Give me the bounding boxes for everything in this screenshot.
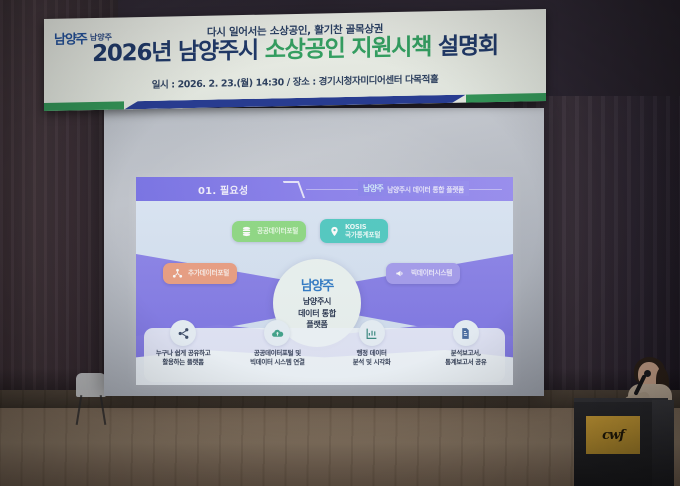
- feature-label: 행정 데이터 분석 및 시각화: [353, 349, 391, 368]
- tag-label-line2: 국가통계포털: [345, 231, 380, 239]
- feature-label-line1: 분석보고서,: [451, 349, 481, 357]
- feature-item-report: 분석보고서, 통계보고서 공유: [419, 320, 513, 382]
- center-line-2: 데이터 통합: [298, 308, 336, 320]
- chevron-right-icon: [283, 181, 305, 198]
- megaphone-icon: [394, 267, 407, 280]
- tag-label: KOSIS 국가통계포털: [345, 223, 380, 239]
- banner-title-part1: 2026년 남양주시: [92, 38, 265, 67]
- slide-header: 01. 필요성 남양주 남양주시 데이터 통합 플랫폼: [136, 177, 513, 201]
- tag-extra-data-portal: 추가데이터포털: [163, 263, 237, 284]
- conference-hall-scene: 01. 필요성 남양주 남양주시 데이터 통합 플랫폼: [0, 0, 680, 486]
- center-line-1: 남양주시: [303, 296, 331, 308]
- tag-label: 공공데이터포털: [257, 227, 298, 235]
- feature-label-line2: 빅데이터 시스템 연결: [250, 358, 305, 366]
- banner-title-part3: 설명회: [431, 33, 498, 60]
- feature-label: 분석보고서, 통계보고서 공유: [445, 349, 486, 368]
- feature-label-line2: 분석 및 시각화: [353, 358, 391, 366]
- chart-icon: [359, 320, 385, 346]
- slide-body: 공공데이터포털 KOSIS 국가통계포털: [136, 201, 513, 385]
- tag-kosis: KOSIS 국가통계포털: [320, 219, 388, 243]
- slide-section-title: 필요성: [220, 186, 248, 197]
- tag-bigdata-system: 빅데이터시스템: [386, 263, 460, 284]
- platform-badge: 남양주 남양주시 데이터 통합 플랫폼: [358, 181, 469, 196]
- database-icon: [240, 225, 253, 238]
- stripe-segment: [466, 93, 546, 103]
- map-pin-icon: [328, 225, 341, 238]
- banner-title-part2: 소상공인 지원시책: [265, 34, 432, 63]
- feature-label: 누구나 쉽게 공유하고 활용하는 플랫폼: [156, 349, 211, 368]
- slide-section-number: 01.: [198, 186, 216, 197]
- feature-label-line1: 누구나 쉽게 공유하고: [156, 349, 211, 357]
- feature-label-line2: 통계보고서 공유: [445, 358, 486, 366]
- presentation-slide: 01. 필요성 남양주 남양주시 데이터 통합 플랫폼: [136, 177, 513, 385]
- share-icon: [170, 320, 196, 346]
- namyangju-logo-icon: 남양주: [363, 183, 383, 194]
- podium-plate: cwf: [586, 416, 640, 454]
- features-row: 누구나 쉽게 공유하고 활용하는 플랫폼 공공데이터포털 및 빅데이터 시스템 …: [136, 320, 513, 382]
- feature-label-line1: 행정 데이터: [357, 349, 387, 357]
- tag-label: 추가데이터포털: [188, 269, 229, 277]
- slide-section-heading: 01. 필요성: [198, 182, 248, 197]
- feature-label-line2: 활용하는 플랫폼: [162, 358, 203, 366]
- podium-side-panel: [652, 400, 674, 486]
- tag-public-data-portal: 공공데이터포털: [232, 221, 306, 242]
- feature-item-cloud: 공공데이터포털 및 빅데이터 시스템 연결: [230, 320, 324, 382]
- podium-plate-logo: cwf: [602, 428, 624, 443]
- cloud-upload-icon: [264, 320, 290, 346]
- network-icon: [171, 267, 184, 280]
- document-icon: [453, 320, 479, 346]
- tag-label: 빅데이터시스템: [411, 269, 452, 277]
- feature-label-line1: 공공데이터포털 및: [254, 349, 301, 357]
- namyangju-logo-icon: 남양주: [301, 275, 333, 294]
- banner-event-meta: 일시 : 2026. 2. 23.(월) 14:30 / 장소 : 경기시청자미…: [44, 69, 546, 93]
- stripe-segment: [44, 101, 124, 111]
- microphone-head: [644, 370, 651, 377]
- feature-item-share: 누구나 쉽게 공유하고 활용하는 플랫폼: [136, 320, 230, 382]
- feature-label: 공공데이터포털 및 빅데이터 시스템 연결: [250, 349, 305, 368]
- feature-item-chart: 행정 데이터 분석 및 시각화: [325, 320, 419, 382]
- platform-badge-label: 남양주시 데이터 통합 플랫폼: [387, 184, 464, 194]
- event-banner: 남양주 남양주 다시 일어서는 소상공인, 활기찬 골목상권 2026년 남양주…: [44, 9, 546, 111]
- stage-chair: [76, 373, 106, 397]
- tag-label-line1: KOSIS: [345, 223, 366, 231]
